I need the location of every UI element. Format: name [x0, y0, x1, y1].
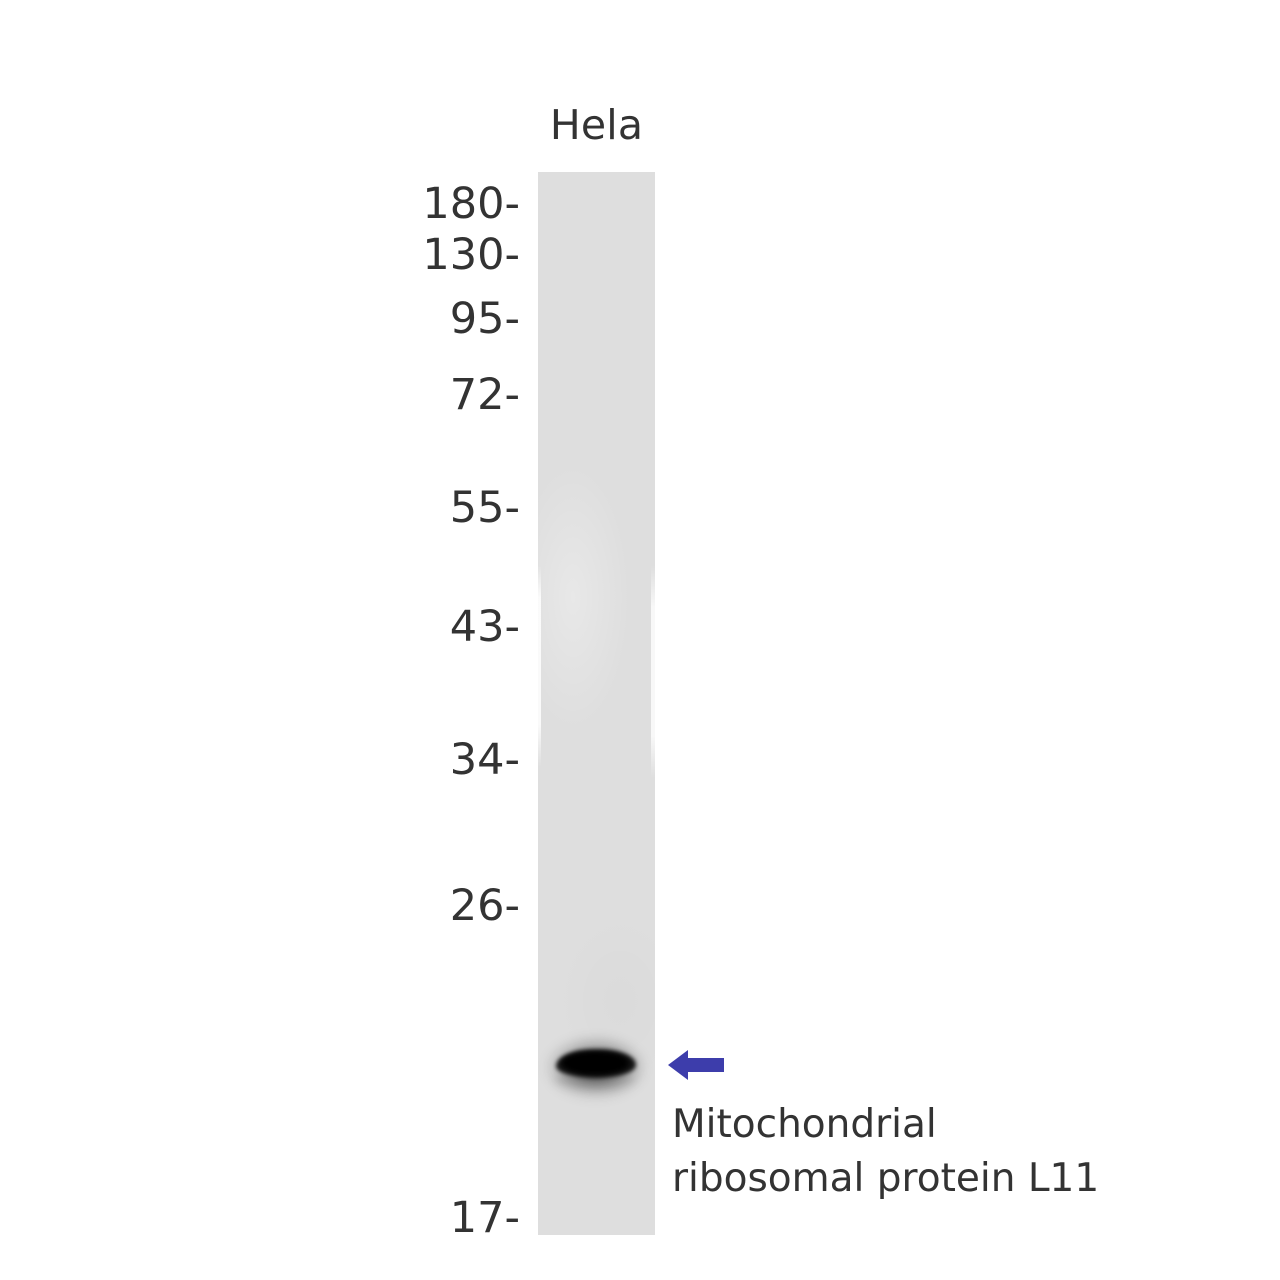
mw-marker-72: 72- [450, 374, 520, 417]
annotation-line-1: Mitochondrial [672, 1098, 1099, 1152]
band-core-center [562, 1053, 628, 1073]
band-annotation-label: Mitochondrial ribosomal protein L11 [672, 1098, 1099, 1206]
mw-marker-43: 43- [450, 606, 520, 649]
lane-header-hela: Hela [538, 101, 655, 149]
protein-band-mrpl11 [538, 1025, 655, 1111]
left-arrow-icon [668, 1046, 724, 1084]
mw-marker-180: 180- [422, 183, 520, 226]
mw-marker-130: 130- [422, 234, 520, 277]
mw-marker-26: 26- [450, 885, 520, 928]
western-blot-figure: Hela 180- 130- 95- 72- 55- 43- 34- 26- 1… [0, 0, 1280, 1280]
mw-marker-17: 17- [450, 1197, 520, 1240]
mw-marker-34: 34- [450, 739, 520, 782]
mw-marker-55: 55- [450, 487, 520, 530]
annotation-line-2: ribosomal protein L11 [672, 1152, 1099, 1206]
mw-marker-95: 95- [450, 298, 520, 341]
